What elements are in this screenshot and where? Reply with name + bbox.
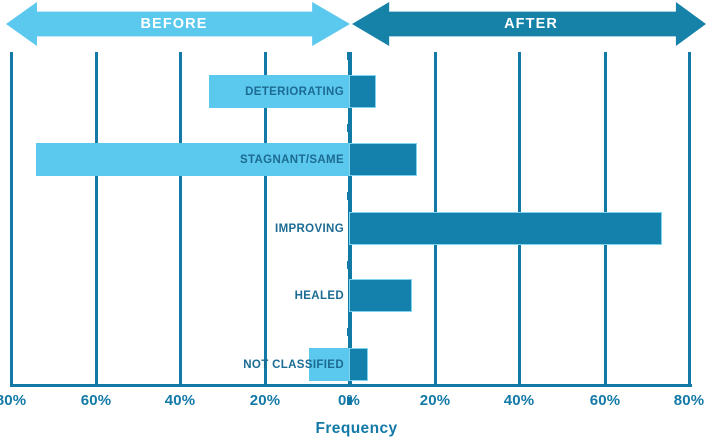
bar-after-4 — [349, 348, 368, 381]
bar-category-label-2: IMPROVING — [275, 212, 344, 245]
after-arrow: AFTER — [352, 2, 706, 46]
x-tick-label-0: 80% — [0, 392, 26, 409]
axis-tickmark-top — [347, 52, 352, 60]
x-tick-label-8: 80% — [674, 392, 705, 409]
bar-category-label-3: HEALED — [295, 279, 344, 312]
axis-tickmark-2 — [347, 261, 352, 269]
axis-tickmark-1 — [347, 192, 352, 200]
before-arrow: BEFORE — [6, 2, 350, 46]
bar-after-3 — [349, 279, 412, 312]
plot-area: DETERIORATINGSTAGNANT/SAMEIMPROVINGHEALE… — [0, 52, 713, 387]
bar-before-1 — [36, 143, 349, 176]
before-arrow-label: BEFORE — [140, 16, 207, 32]
x-tick-label-5: 20% — [420, 392, 451, 409]
x-tick-label-2: 40% — [165, 392, 196, 409]
x-axis-title: Frequency — [0, 420, 713, 438]
bar-after-1 — [349, 143, 417, 176]
bar-before-0 — [209, 75, 349, 108]
x-tick-label-4: 0% — [338, 392, 360, 409]
x-tick-label-1: 60% — [81, 392, 112, 409]
chart-canvas: BEFORE AFTER DETERIORATINGSTAGNANT/SAMEI… — [0, 0, 713, 445]
x-tick-label-7: 60% — [590, 392, 621, 409]
gridline-2 — [179, 52, 182, 387]
x-tick-label-3: 20% — [250, 392, 281, 409]
axis-tickmark-3 — [347, 328, 352, 336]
gridline-1 — [95, 52, 98, 387]
after-arrow-label: AFTER — [504, 16, 558, 32]
gridline-8 — [688, 52, 691, 387]
bar-before-4 — [309, 348, 349, 381]
bar-after-0 — [349, 75, 376, 108]
axis-tickmark-0 — [347, 124, 352, 132]
gridline-0 — [10, 52, 13, 387]
x-tick-labels: 80%60%40%20%0%20%40%60%80% — [0, 392, 713, 414]
x-tick-label-6: 40% — [504, 392, 535, 409]
x-axis-line — [11, 384, 692, 387]
bar-after-2 — [349, 212, 662, 245]
legend-arrow-band: BEFORE AFTER — [0, 2, 713, 46]
